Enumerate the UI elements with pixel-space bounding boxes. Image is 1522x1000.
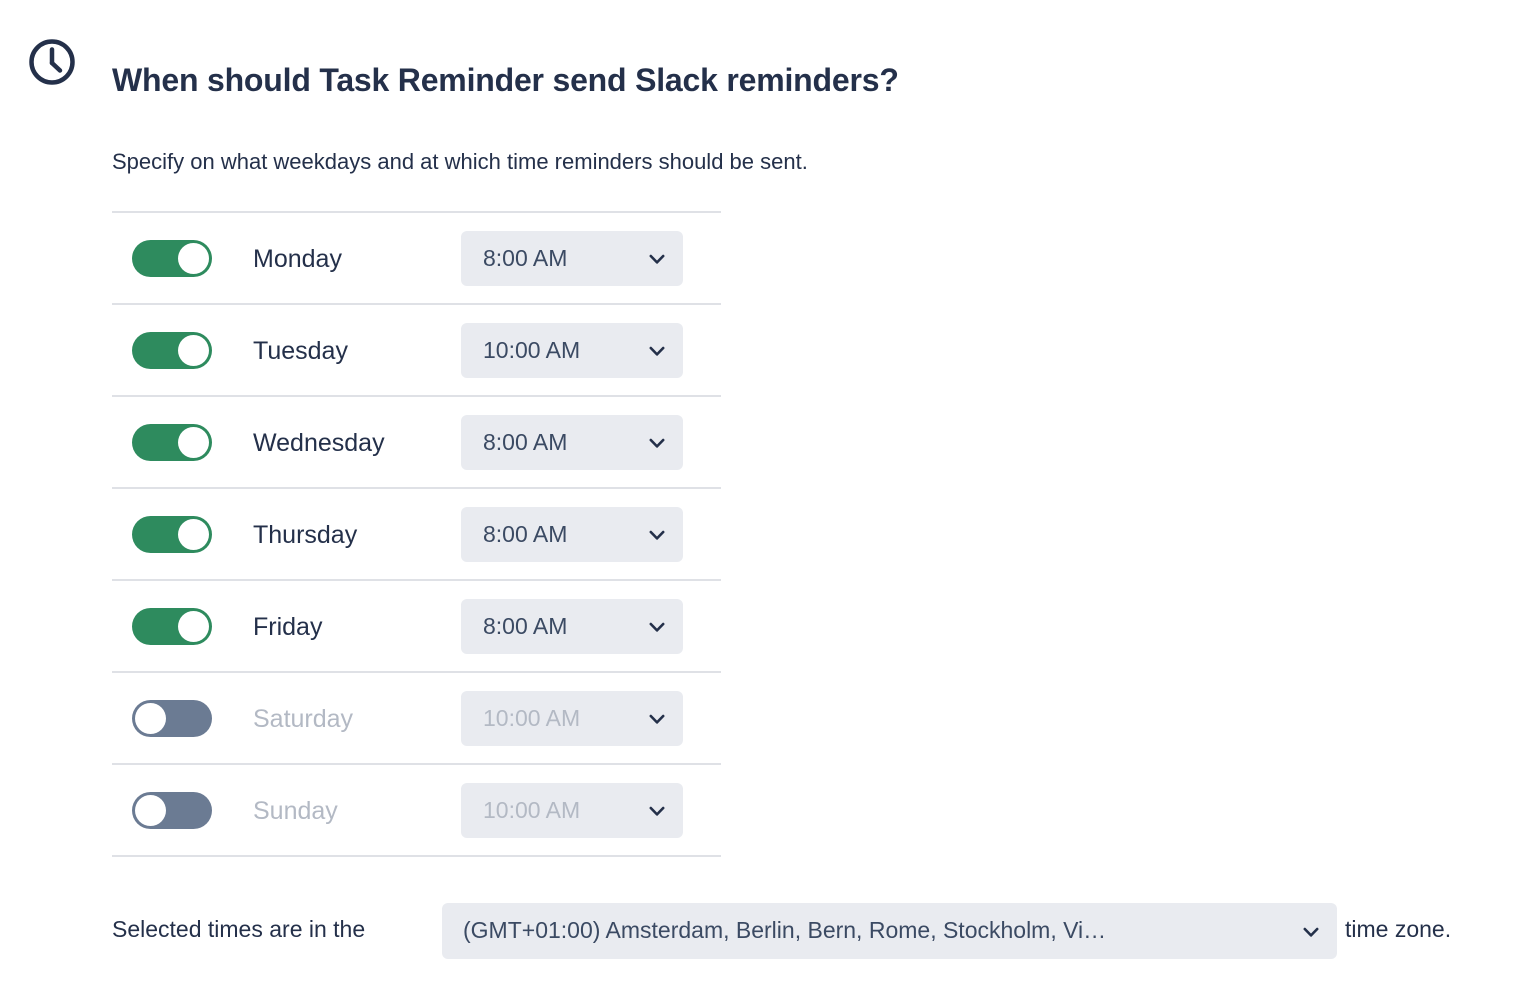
- toggle-saturday[interactable]: [132, 700, 212, 737]
- timezone-select[interactable]: (GMT+01:00) Amsterdam, Berlin, Bern, Rom…: [442, 903, 1337, 959]
- day-label-thursday: Thursday: [253, 521, 357, 550]
- page-title: When should Task Reminder send Slack rem…: [112, 62, 899, 99]
- timezone-value: (GMT+01:00) Amsterdam, Berlin, Bern, Rom…: [463, 917, 1106, 944]
- toggle-knob: [178, 611, 209, 642]
- page-subtitle: Specify on what weekdays and at which ti…: [112, 149, 808, 175]
- weekday-schedule-table: Monday 8:00 AM Tuesday 10:00 AM: [112, 211, 721, 857]
- day-label-tuesday: Tuesday: [253, 337, 348, 366]
- time-select-friday[interactable]: 8:00 AM: [461, 599, 683, 654]
- schedule-row-friday: Friday 8:00 AM: [112, 581, 721, 671]
- schedule-row-tuesday: Tuesday 10:00 AM: [112, 305, 721, 395]
- chevron-down-icon: [649, 436, 665, 447]
- toggle-knob: [178, 335, 209, 366]
- chevron-down-icon: [649, 344, 665, 355]
- toggle-knob: [178, 519, 209, 550]
- toggle-monday[interactable]: [132, 240, 212, 277]
- chevron-down-icon: [1303, 925, 1319, 936]
- time-value-monday: 8:00 AM: [483, 245, 567, 272]
- clock-icon: [27, 37, 77, 87]
- toggle-knob: [135, 795, 166, 826]
- time-value-sunday: 10:00 AM: [483, 797, 580, 824]
- schedule-row-saturday: Saturday 10:00 AM: [112, 673, 721, 763]
- chevron-down-icon: [649, 712, 665, 723]
- timezone-row: Selected times are in the (GMT+01:00) Am…: [112, 903, 1512, 959]
- toggle-knob: [135, 703, 166, 734]
- time-value-thursday: 8:00 AM: [483, 521, 567, 548]
- day-label-monday: Monday: [253, 245, 342, 274]
- toggle-sunday[interactable]: [132, 792, 212, 829]
- timezone-prefix-label: Selected times are in the: [112, 916, 365, 943]
- toggle-thursday[interactable]: [132, 516, 212, 553]
- day-label-saturday: Saturday: [253, 705, 353, 734]
- time-value-wednesday: 8:00 AM: [483, 429, 567, 456]
- toggle-friday[interactable]: [132, 608, 212, 645]
- schedule-row-sunday: Sunday 10:00 AM: [112, 765, 721, 855]
- day-label-wednesday: Wednesday: [253, 429, 385, 458]
- time-select-tuesday[interactable]: 10:00 AM: [461, 323, 683, 378]
- time-value-tuesday: 10:00 AM: [483, 337, 580, 364]
- chevron-down-icon: [649, 528, 665, 539]
- chevron-down-icon: [649, 252, 665, 263]
- toggle-tuesday[interactable]: [132, 332, 212, 369]
- time-value-friday: 8:00 AM: [483, 613, 567, 640]
- time-value-saturday: 10:00 AM: [483, 705, 580, 732]
- schedule-row-thursday: Thursday 8:00 AM: [112, 489, 721, 579]
- row-divider: [112, 855, 721, 857]
- day-label-sunday: Sunday: [253, 797, 338, 826]
- toggle-knob: [178, 243, 209, 274]
- toggle-knob: [178, 427, 209, 458]
- time-select-monday[interactable]: 8:00 AM: [461, 231, 683, 286]
- schedule-row-monday: Monday 8:00 AM: [112, 213, 721, 303]
- day-label-friday: Friday: [253, 613, 322, 642]
- time-select-saturday[interactable]: 10:00 AM: [461, 691, 683, 746]
- timezone-suffix-label: time zone.: [1345, 916, 1451, 943]
- time-select-sunday[interactable]: 10:00 AM: [461, 783, 683, 838]
- toggle-wednesday[interactable]: [132, 424, 212, 461]
- chevron-down-icon: [649, 620, 665, 631]
- reminder-schedule-page: When should Task Reminder send Slack rem…: [0, 0, 1522, 1000]
- schedule-row-wednesday: Wednesday 8:00 AM: [112, 397, 721, 487]
- chevron-down-icon: [649, 804, 665, 815]
- time-select-thursday[interactable]: 8:00 AM: [461, 507, 683, 562]
- time-select-wednesday[interactable]: 8:00 AM: [461, 415, 683, 470]
